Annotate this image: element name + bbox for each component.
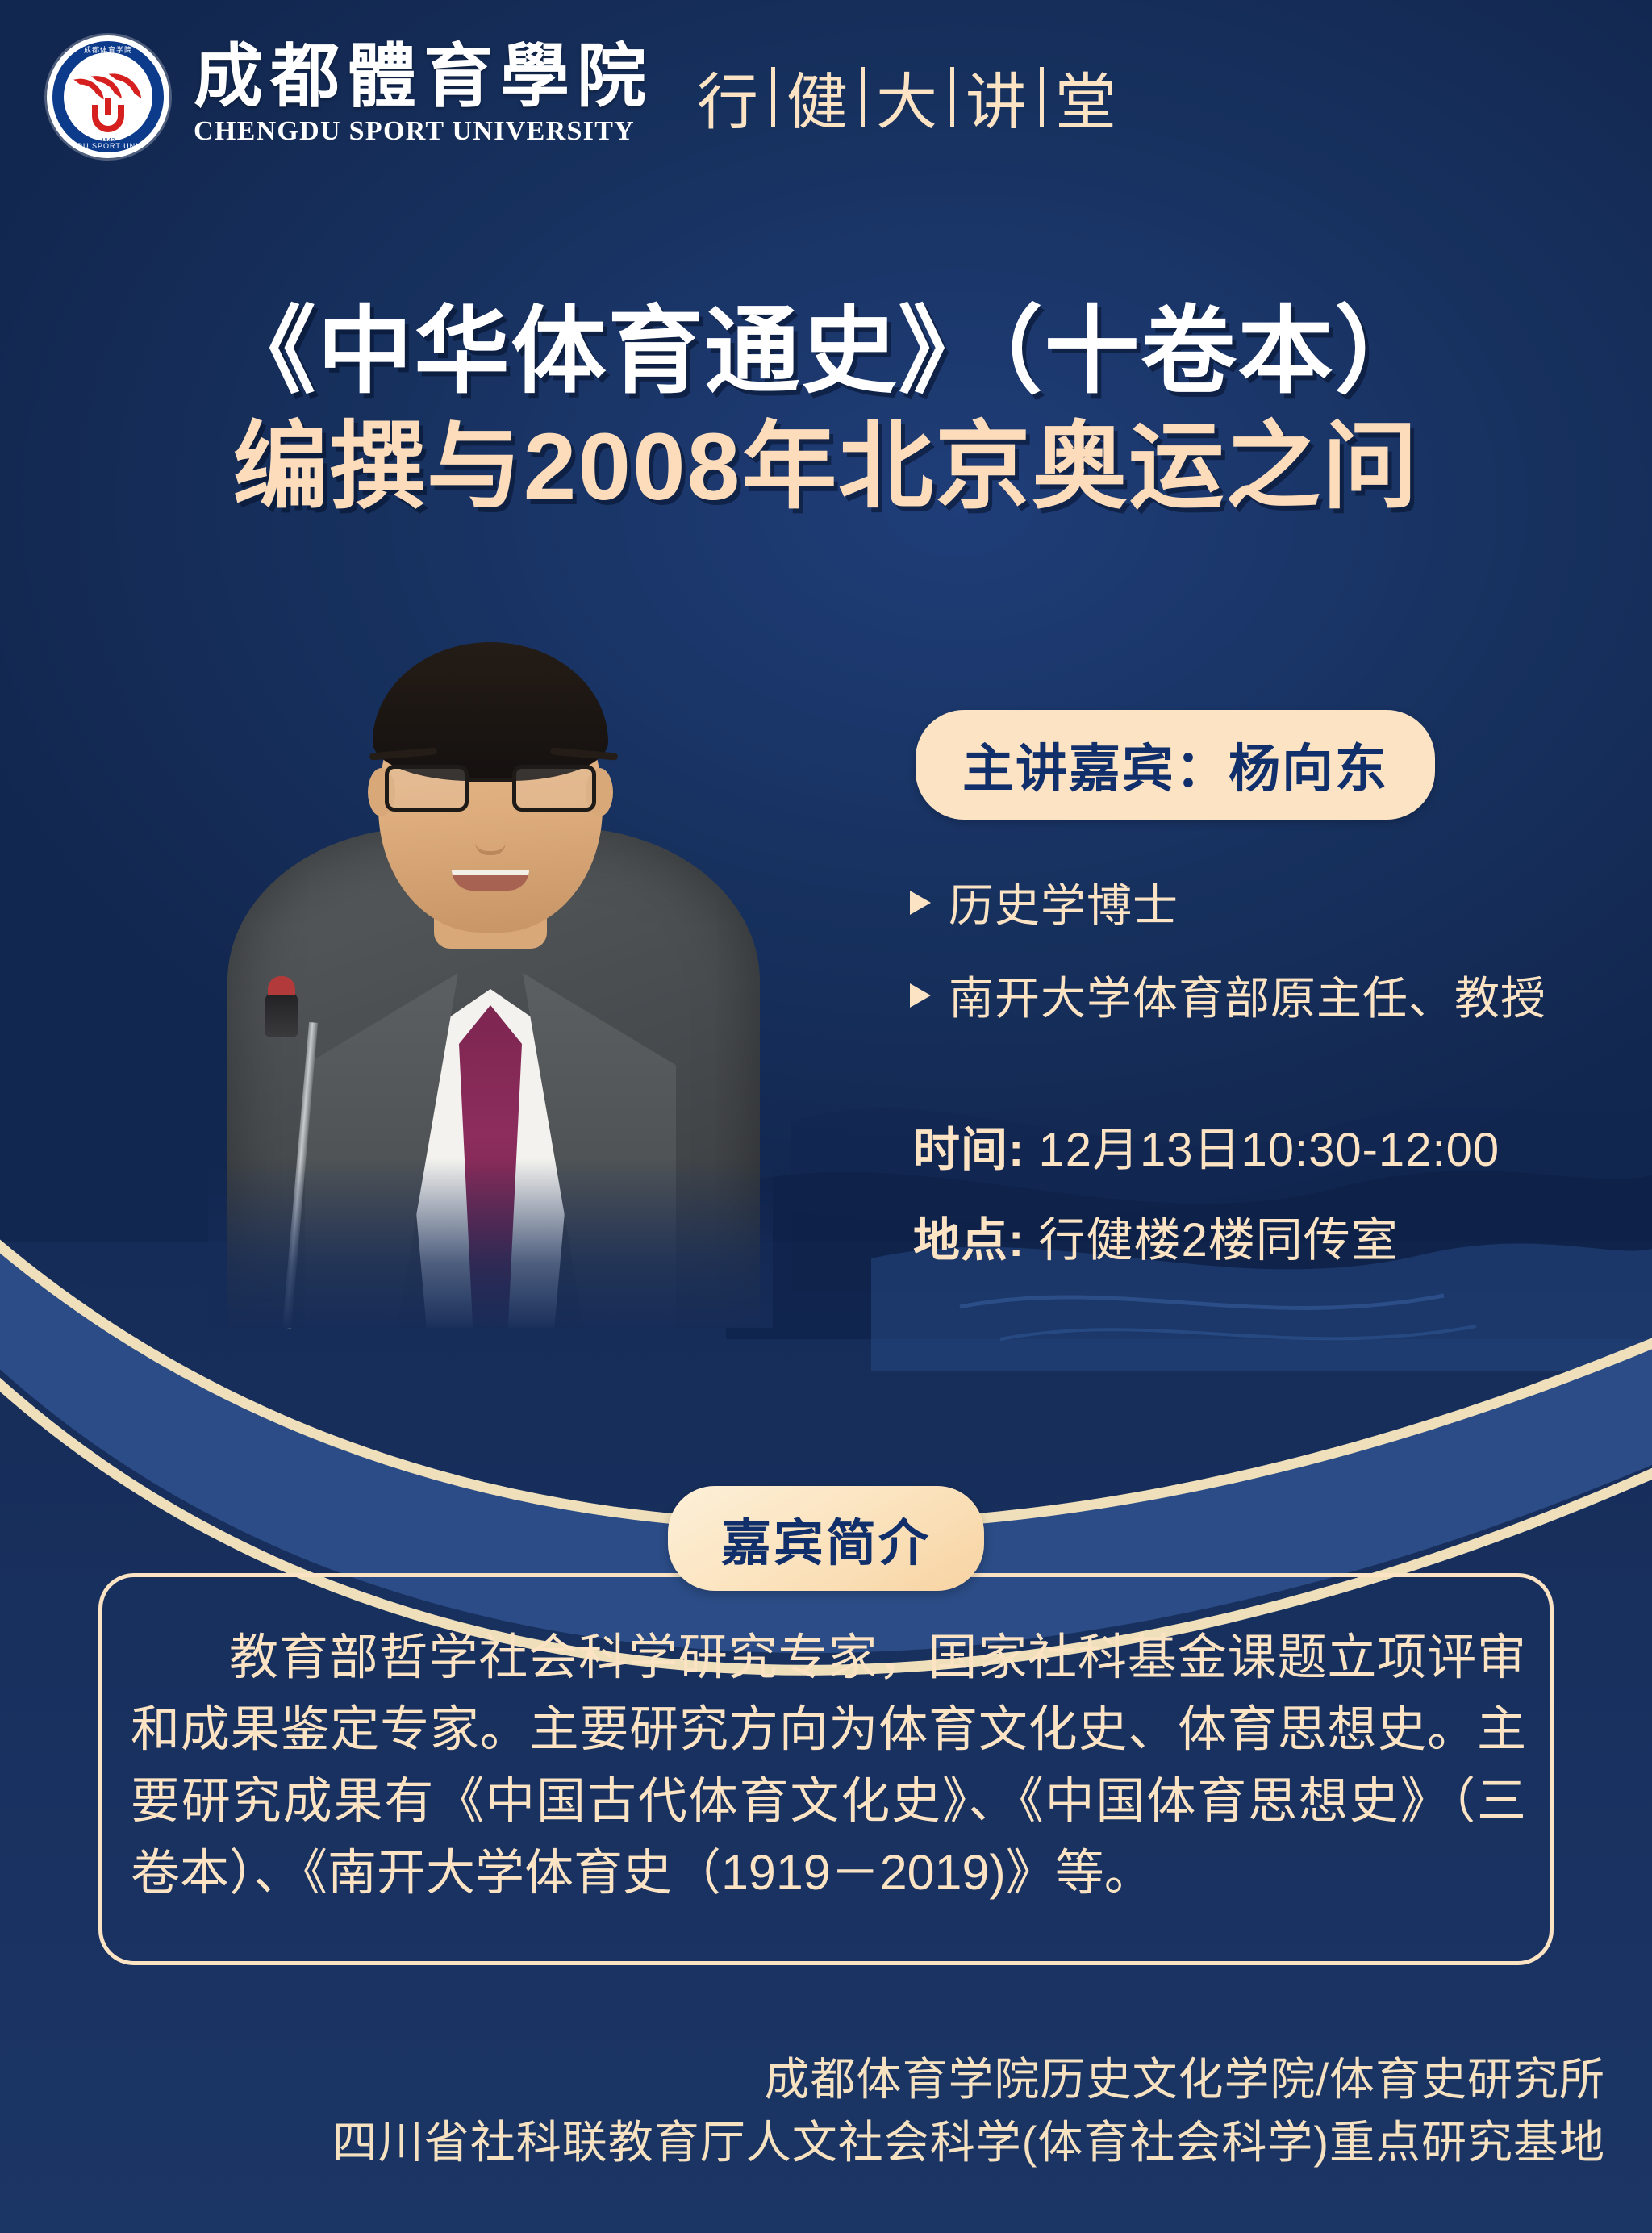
speaker-photo <box>208 578 773 1328</box>
university-name-block: 成都體育學院 CHENGDU SPORT UNIVERSITY <box>194 42 653 152</box>
speaker-credentials-list: 历史学博士 南开大学体育部原主任、教授 <box>910 870 1546 1028</box>
arrow-right-icon <box>910 891 931 915</box>
bio-section-text: 教育部哲学社会科学研究专家，国家社科基金课题立项评审和成果鉴定专家。主要研究方向… <box>131 1622 1526 1909</box>
glasses-lens-right <box>512 765 596 812</box>
series-separator-0 <box>771 67 775 127</box>
speaker-name-badge: 主讲嘉宾：杨向东 <box>916 710 1435 820</box>
event-place-row: 地点: 行健楼2楼同传室 <box>913 1202 1500 1270</box>
event-time-label: 时间: <box>913 1124 1024 1176</box>
credential-item-0: 历史学博士 <box>910 870 1546 935</box>
series-separator-2 <box>950 67 954 127</box>
photo-bottom-fade <box>208 1158 773 1328</box>
credential-label-1: 南开大学体育部原主任、教授 <box>949 962 1546 1028</box>
series-separator-3 <box>1040 67 1044 127</box>
credential-item-1: 南开大学体育部原主任、教授 <box>910 962 1546 1028</box>
poster-root: 成都体育学院 1942 CHENGDU SPORT UNIVERSITY 成都體… <box>0 0 1652 2233</box>
series-char-2: 大 <box>876 52 939 141</box>
seal-arc-bottom-text: CHENGDU SPORT UNIVERSITY <box>47 142 169 150</box>
footer-line-1: 成都体育学院历史文化学院/体育史研究所 <box>332 2048 1605 2110</box>
poster-header: 成都体育学院 1942 CHENGDU SPORT UNIVERSITY 成都體… <box>0 0 1652 194</box>
speaker-nose <box>475 816 506 855</box>
university-name-cn: 成都體育學院 <box>194 42 653 111</box>
glasses-bridge <box>468 778 513 782</box>
speaker-glasses-icon <box>383 760 598 818</box>
lecture-title-block: 《中华体育通史》（十卷本） 编撰与2008年北京奥运之问 <box>0 297 1652 523</box>
lecture-series-title: 行 健 大 讲 堂 <box>697 52 1118 141</box>
arrow-right-icon <box>910 983 931 1008</box>
series-char-4: 堂 <box>1055 52 1118 141</box>
footer-line-2: 四川省社科联教育厅人文社会科学(体育社会科学)重点研究基地 <box>332 2111 1605 2173</box>
series-char-3: 讲 <box>966 52 1028 141</box>
lecture-title-line-1: 《中华体育通史》（十卷本） <box>0 297 1652 407</box>
lecture-title-line-2: 编撰与2008年北京奥运之问 <box>0 412 1652 523</box>
series-char-1: 健 <box>786 52 849 141</box>
speaker-mouth <box>452 870 529 891</box>
bio-section-badge: 嘉宾简介 <box>668 1486 984 1591</box>
event-place-label: 地点: <box>913 1214 1024 1267</box>
event-meta-block: 时间: 12月13日10:30-12:00 地点: 行健楼2楼同传室 <box>913 1112 1500 1270</box>
university-seal-icon: 成都体育学院 1942 CHENGDU SPORT UNIVERSITY <box>47 35 169 158</box>
glasses-lens-left <box>385 765 469 812</box>
credential-label-0: 历史学博士 <box>949 870 1179 935</box>
event-time-value: 12月13日10:30-12:00 <box>1038 1124 1500 1176</box>
microphone-tip-icon <box>268 976 295 995</box>
event-time-row: 时间: 12月13日10:30-12:00 <box>913 1112 1500 1179</box>
series-char-0: 行 <box>697 52 760 141</box>
poster-footer: 成都体育学院历史文化学院/体育史研究所 四川省社科联教育厅人文社会科学(体育社会… <box>332 2048 1605 2173</box>
university-name-en: CHENGDU SPORT UNIVERSITY <box>194 116 653 147</box>
series-separator-1 <box>861 67 865 127</box>
seal-arc-top-text: 成都体育学院 <box>47 44 169 55</box>
event-place-value: 行健楼2楼同传室 <box>1038 1214 1398 1267</box>
